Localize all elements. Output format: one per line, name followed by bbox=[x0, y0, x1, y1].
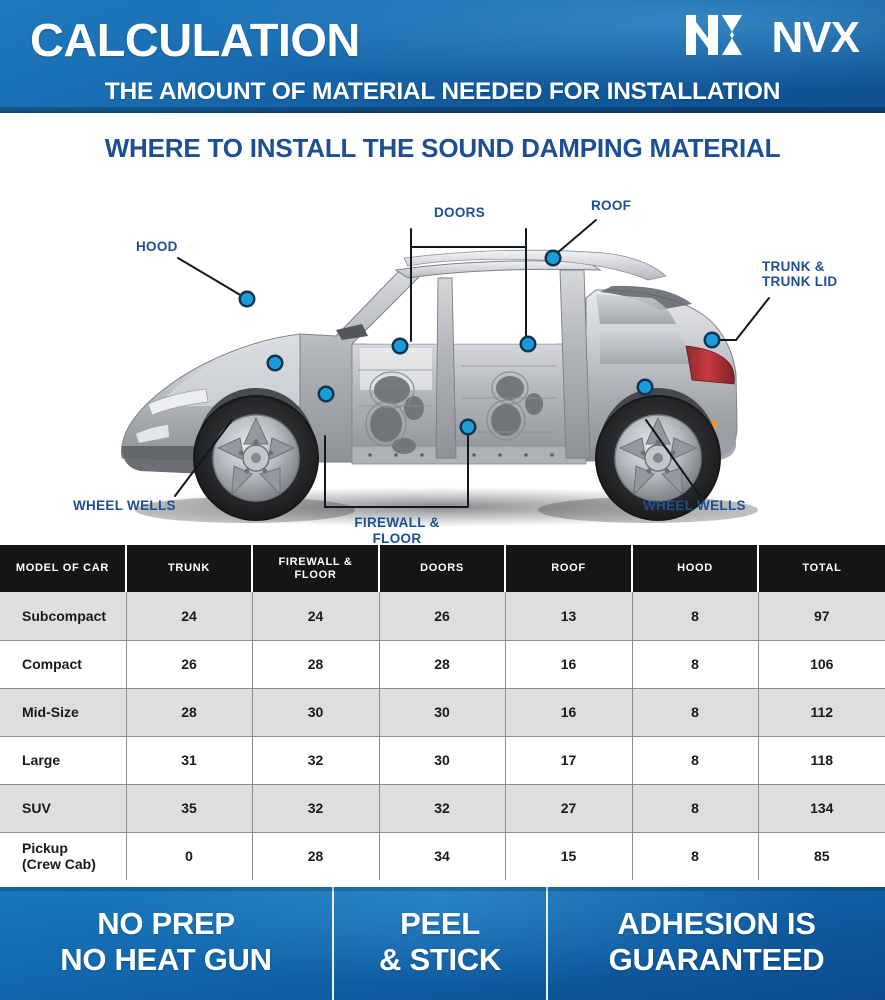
header-subtitle: THE AMOUNT OF MATERIAL NEEDED FOR INSTAL… bbox=[0, 78, 885, 106]
page-header: CALCULATION NVX THE AMOUNT OF MATERIAL N… bbox=[0, 0, 885, 113]
table-row: Compact 26 28 28 16 8 106 bbox=[0, 640, 885, 688]
column-header-hood: HOOD bbox=[632, 545, 758, 592]
cell-trunk: 28 bbox=[126, 688, 252, 736]
cell-firewall: 32 bbox=[252, 784, 379, 832]
footer-panel-adhesion: ADHESION ISGUARANTEED bbox=[548, 887, 885, 1000]
cell-model: Large bbox=[0, 736, 126, 784]
column-header-trunk: TRUNK bbox=[126, 545, 252, 592]
table-header: MODEL OF CAR TRUNK FIREWALL & FLOOR DOOR… bbox=[0, 545, 885, 592]
cell-model: SUV bbox=[0, 784, 126, 832]
cell-trunk: 24 bbox=[126, 592, 252, 640]
cell-hood: 8 bbox=[632, 736, 758, 784]
cell-hood: 8 bbox=[632, 592, 758, 640]
cell-firewall: 32 bbox=[252, 736, 379, 784]
footer-line2: GUARANTEED bbox=[609, 942, 825, 977]
table-row: SUV 35 32 32 27 8 134 bbox=[0, 784, 885, 832]
column-header-model: MODEL OF CAR bbox=[0, 545, 126, 592]
table-header-row: MODEL OF CAR TRUNK FIREWALL & FLOOR DOOR… bbox=[0, 545, 885, 592]
cell-hood: 8 bbox=[632, 832, 758, 880]
cell-total: 118 bbox=[758, 736, 885, 784]
label-wheel-wells-front: WHEEL WELLS bbox=[73, 498, 176, 513]
footer-panel-text: NO PREPNO HEAT GUN bbox=[60, 906, 271, 978]
footer-line1: ADHESION IS bbox=[617, 906, 815, 941]
label-firewall-line2: FLOOR bbox=[327, 531, 467, 546]
cell-total: 97 bbox=[758, 592, 885, 640]
cell-model-line1: Pickup bbox=[22, 840, 68, 856]
cell-roof: 13 bbox=[505, 592, 632, 640]
footer-line1: PEEL bbox=[400, 906, 480, 941]
page-footer: NO PREPNO HEAT GUN PEEL& STICK ADHESION … bbox=[0, 887, 885, 1000]
diagram-section: WHERE TO INSTALL THE SOUND DAMPING MATER… bbox=[0, 113, 885, 545]
footer-line2: NO HEAT GUN bbox=[60, 942, 271, 977]
column-header-total: TOTAL bbox=[758, 545, 885, 592]
table-row: Subcompact 24 24 26 13 8 97 bbox=[0, 592, 885, 640]
cell-doors: 28 bbox=[379, 640, 505, 688]
nvx-logo-icon bbox=[684, 12, 768, 63]
cell-model: Compact bbox=[0, 640, 126, 688]
footer-panel-text: ADHESION ISGUARANTEED bbox=[609, 906, 825, 978]
page-title: CALCULATION bbox=[30, 14, 360, 66]
cell-roof: 27 bbox=[505, 784, 632, 832]
cell-roof: 15 bbox=[505, 832, 632, 880]
footer-panel-no-prep: NO PREPNO HEAT GUN bbox=[0, 887, 334, 1000]
cell-doors: 34 bbox=[379, 832, 505, 880]
cell-doors: 26 bbox=[379, 592, 505, 640]
cell-hood: 8 bbox=[632, 784, 758, 832]
cell-doors: 32 bbox=[379, 784, 505, 832]
column-header-roof: ROOF bbox=[505, 545, 632, 592]
cell-trunk: 35 bbox=[126, 784, 252, 832]
cell-roof: 16 bbox=[505, 640, 632, 688]
column-header-firewall-floor: FIREWALL & FLOOR bbox=[252, 545, 379, 592]
cell-trunk: 26 bbox=[126, 640, 252, 688]
cell-model: Mid-Size bbox=[0, 688, 126, 736]
footer-line2: & STICK bbox=[379, 942, 501, 977]
cell-doors: 30 bbox=[379, 736, 505, 784]
footer-line1: NO PREP bbox=[97, 906, 234, 941]
cell-model: Pickup (Crew Cab) bbox=[0, 832, 126, 880]
label-trunk-line2: TRUNK LID bbox=[762, 274, 837, 289]
cell-firewall: 28 bbox=[252, 832, 379, 880]
cell-firewall: 28 bbox=[252, 640, 379, 688]
cell-trunk: 31 bbox=[126, 736, 252, 784]
cell-total: 134 bbox=[758, 784, 885, 832]
brand-logo: NVX bbox=[684, 12, 859, 63]
cell-model-line2: (Crew Cab) bbox=[22, 856, 96, 872]
column-header-firewall-line2: FLOOR bbox=[295, 569, 337, 581]
footer-panel-peel-stick: PEEL& STICK bbox=[334, 887, 548, 1000]
cell-model: Subcompact bbox=[0, 592, 126, 640]
table-row: Large 31 32 30 17 8 118 bbox=[0, 736, 885, 784]
label-roof: ROOF bbox=[591, 198, 631, 213]
label-wheel-wells-rear: WHEEL WELLS bbox=[643, 498, 746, 513]
table-row: Pickup (Crew Cab) 0 28 34 15 8 85 bbox=[0, 832, 885, 880]
cell-hood: 8 bbox=[632, 640, 758, 688]
cell-total: 112 bbox=[758, 688, 885, 736]
cell-roof: 16 bbox=[505, 688, 632, 736]
column-header-firewall-line1: FIREWALL & bbox=[278, 556, 352, 568]
cell-trunk: 0 bbox=[126, 832, 252, 880]
cell-firewall: 30 bbox=[252, 688, 379, 736]
cell-total: 85 bbox=[758, 832, 885, 880]
table-body: Subcompact 24 24 26 13 8 97 Compact 26 2… bbox=[0, 592, 885, 880]
cell-total: 106 bbox=[758, 640, 885, 688]
calculation-table: MODEL OF CAR TRUNK FIREWALL & FLOOR DOOR… bbox=[0, 545, 885, 880]
cell-doors: 30 bbox=[379, 688, 505, 736]
label-firewall-line1: FIREWALL & bbox=[327, 515, 467, 530]
brand-name: NVX bbox=[772, 15, 859, 61]
vehicle-diagram: HOOD DOORS ROOF TRUNK & TRUNK LID WHEEL … bbox=[0, 158, 885, 545]
cell-hood: 8 bbox=[632, 688, 758, 736]
table-row: Mid-Size 28 30 30 16 8 112 bbox=[0, 688, 885, 736]
label-hood: HOOD bbox=[136, 239, 178, 254]
label-doors: DOORS bbox=[434, 205, 485, 220]
footer-panel-text: PEEL& STICK bbox=[379, 906, 501, 978]
label-trunk-line1: TRUNK & bbox=[762, 259, 825, 274]
calculation-table-section: MODEL OF CAR TRUNK FIREWALL & FLOOR DOOR… bbox=[0, 545, 885, 885]
column-header-doors: DOORS bbox=[379, 545, 505, 592]
cell-firewall: 24 bbox=[252, 592, 379, 640]
cell-roof: 17 bbox=[505, 736, 632, 784]
